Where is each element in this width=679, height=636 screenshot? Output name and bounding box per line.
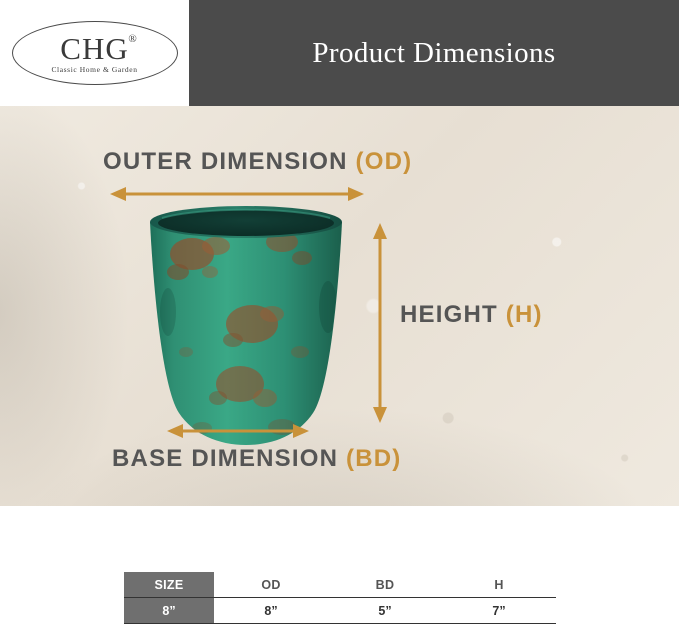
dimensions-table: SIZE OD BD H 8” 8” 5” 7” <box>124 572 556 624</box>
height-code: (H) <box>506 301 543 328</box>
table-header-od: OD <box>214 572 328 598</box>
page-header: CHG ® Classic Home & Garden Product Dime… <box>0 0 679 106</box>
table-header-bd: BD <box>328 572 442 598</box>
logo-brand-text: CHG ® <box>60 33 128 64</box>
table-header-h: H <box>442 572 556 598</box>
logo-brand-label: CHG <box>60 31 128 66</box>
cell-size: 8” <box>124 598 214 624</box>
table-header-row: SIZE OD BD H <box>124 572 556 598</box>
product-dimensions-page: CHG ® Classic Home & Garden Product Dime… <box>0 0 679 636</box>
brand-logo: CHG ® Classic Home & Garden <box>0 0 189 106</box>
height-text: HEIGHT <box>400 301 506 328</box>
cell-h: 7” <box>442 598 556 624</box>
height-arrow <box>371 223 389 423</box>
base-dimension-label: BASE DIMENSION (BD) <box>112 445 401 473</box>
dimensions-table-section: SIZE OD BD H 8” 8” 5” 7” <box>0 506 679 636</box>
registered-trademark-icon: ® <box>128 34 137 45</box>
outer-dimension-arrow <box>110 185 364 203</box>
table-row: 8” 8” 5” 7” <box>124 598 556 624</box>
table-header-size: SIZE <box>124 572 214 598</box>
cell-od: 8” <box>214 598 328 624</box>
base-dimension-arrow <box>167 422 309 440</box>
outer-dimension-text: OUTER DIMENSION <box>103 148 356 175</box>
cell-bd: 5” <box>328 598 442 624</box>
height-label: HEIGHT (H) <box>400 301 543 329</box>
logo-tagline: Classic Home & Garden <box>51 66 137 74</box>
outer-dimension-code: (OD) <box>356 148 413 175</box>
outer-dimension-label: OUTER DIMENSION (OD) <box>103 148 412 176</box>
base-dimension-text: BASE DIMENSION <box>112 445 346 472</box>
base-dimension-code: (BD) <box>346 445 401 472</box>
logo-oval-frame: CHG ® Classic Home & Garden <box>12 21 178 85</box>
dimensions-diagram: OUTER DIMENSION (OD) BASE DIMENSION (BD)… <box>0 106 679 506</box>
page-title: Product Dimensions <box>189 0 679 106</box>
